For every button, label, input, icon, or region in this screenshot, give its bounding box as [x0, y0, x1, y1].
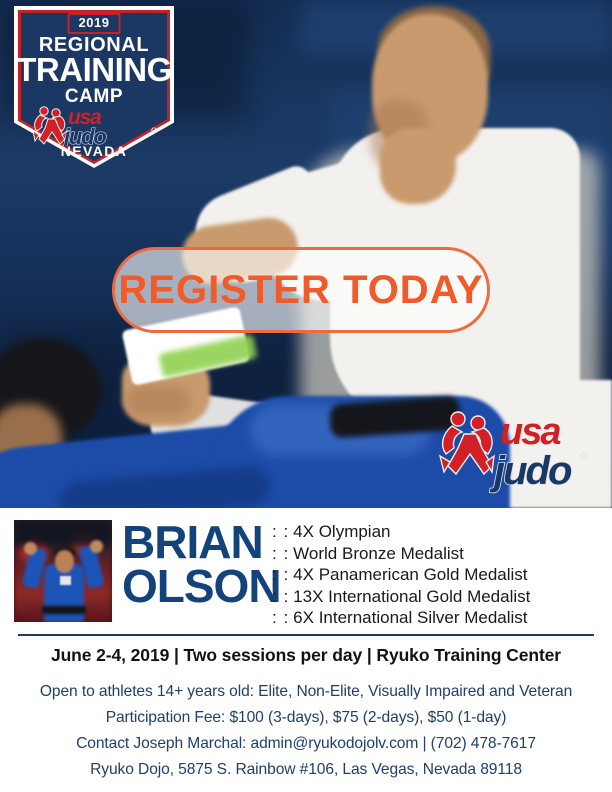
event-headline: June 2-4, 2019 | Two sessions per day | … [0, 644, 612, 666]
badge-usa-judo-logo: usa judo [30, 104, 158, 144]
credential-item: : :World Bronze Medalist [272, 543, 602, 565]
credential-bullet: : : [272, 608, 289, 627]
badge-region: NEVADA [14, 143, 174, 159]
register-today-button[interactable]: REGISTER TODAY [112, 247, 490, 333]
credential-item: : :6X International Silver Medalist [272, 607, 602, 629]
credential-item: : :4X Olympian [272, 521, 602, 543]
headshot-left-fist [24, 542, 37, 555]
athlete-credentials: : :4X Olympian : :World Bronze Medalist … [272, 521, 602, 629]
usa-judo-logo: usa judo [432, 404, 590, 496]
footer-divider [18, 634, 594, 636]
headshot-head [55, 550, 74, 573]
fee-line: Participation Fee: $100 (3-days), $75 (2… [0, 705, 612, 731]
athlete-hand-shadow [126, 386, 190, 416]
register-today-label: REGISTER TODAY [118, 268, 483, 313]
svg-text:usa: usa [500, 411, 561, 453]
athlete-name: BRIAN OLSON [122, 520, 272, 608]
credential-label: 6X International Silver Medalist [293, 608, 527, 627]
contact-line: Contact Joseph Marchal: admin@ryukodojol… [0, 731, 612, 757]
badge-usa-judo-svg: usa judo [30, 104, 158, 146]
credential-item: : :4X Panamerican Gold Medalist [272, 564, 602, 586]
credential-label: 4X Olympian [293, 522, 390, 541]
athlete-last-name: OLSON [122, 564, 272, 608]
eligibility-line: Open to athletes 14+ years old: Elite, N… [0, 679, 612, 705]
hero-photo: REGISTER TODAY usa judo [0, 0, 612, 508]
credential-item: : :13X International Gold Medalist [272, 586, 602, 608]
headshot-gi-patch [60, 576, 71, 585]
athlete-strip: BRIAN OLSON : :4X Olympian : :World Bron… [0, 508, 612, 633]
badge-content: 2019 REGIONAL TRAINING CAMP [14, 6, 174, 168]
credential-label: World Bronze Medalist [293, 544, 464, 563]
credential-bullet: : : [272, 522, 289, 541]
headshot-right-fist [90, 540, 103, 553]
athlete-first-name: BRIAN [122, 520, 272, 564]
address-line: Ryuko Dojo, 5875 S. Rainbow #106, Las Ve… [0, 757, 612, 783]
footer-details: June 2-4, 2019 | Two sessions per day | … [0, 644, 612, 783]
training-camp-badge: 2019 REGIONAL TRAINING CAMP [14, 6, 174, 168]
credential-label: 13X International Gold Medalist [293, 587, 530, 606]
badge-year: 2019 [68, 13, 121, 34]
credential-bullet: : : [272, 544, 289, 563]
flyer-page: REGISTER TODAY usa judo [0, 0, 612, 792]
athlete-neck [380, 128, 456, 204]
badge-line-training: TRAINING [8, 51, 180, 89]
credential-label: 4X Panamerican Gold Medalist [293, 565, 527, 584]
athlete-headshot [14, 520, 112, 622]
usa-judo-logo-svg: usa judo [432, 404, 590, 496]
credential-bullet: : : [272, 587, 289, 606]
headshot-belt [42, 606, 86, 614]
credential-bullet: : : [272, 565, 289, 584]
svg-text:judo: judo [489, 449, 572, 493]
